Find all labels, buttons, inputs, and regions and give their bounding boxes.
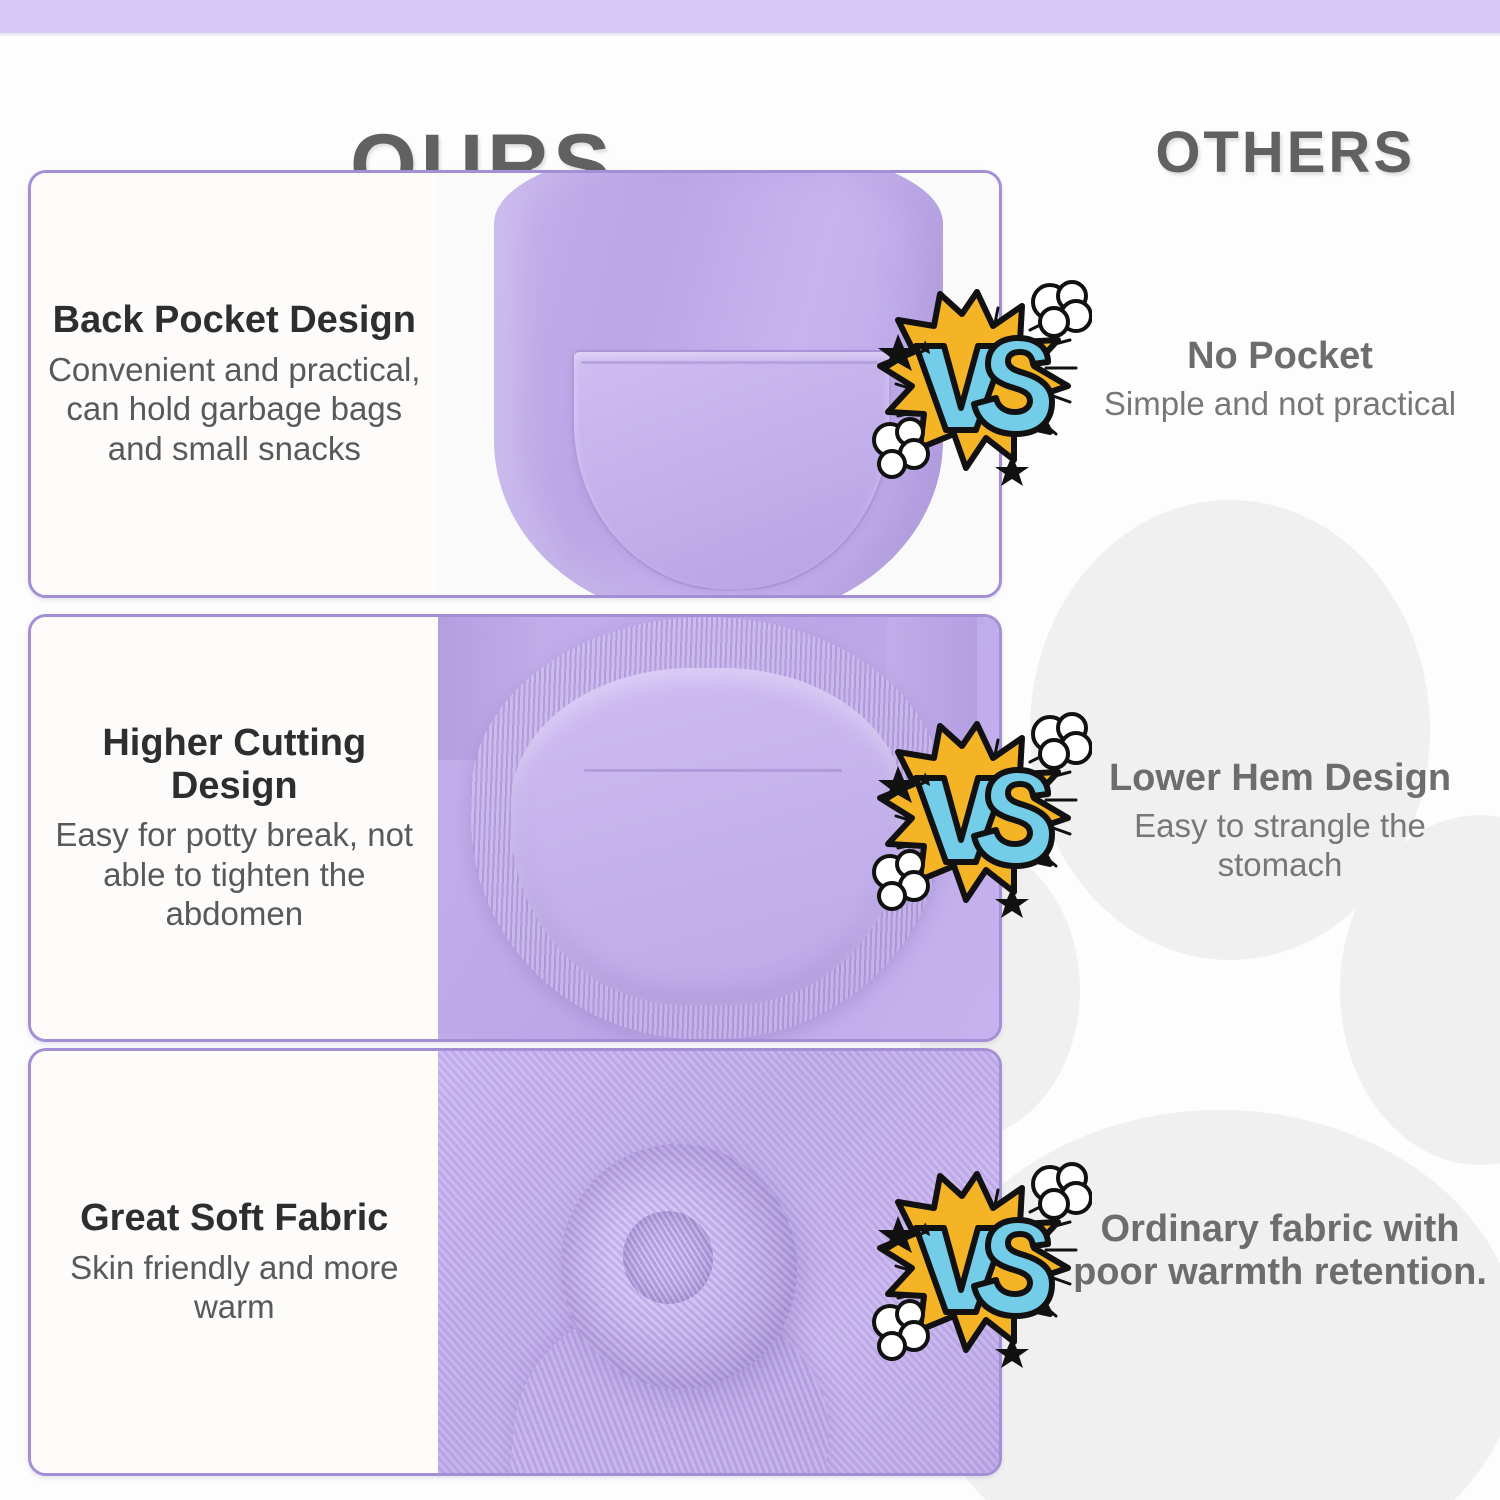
comparison-card-1: Back Pocket Design Convenient and practi… (28, 170, 1002, 598)
comparison-card-3: Great Soft Fabric Skin friendly and more… (28, 1048, 1002, 1476)
ours-text-block-3: Great Soft Fabric Skin friendly and more… (31, 1051, 438, 1473)
others-title-3: Ordinary fabric with poor warmth retenti… (1070, 1208, 1490, 1293)
ours-description-3: Skin friendly and more warm (45, 1248, 424, 1327)
comparison-card-2: Higher Cutting Design Easy for potty bre… (28, 614, 1002, 1042)
hoodie-hem-seam (584, 769, 842, 772)
others-description-2: Easy to strangle the stomach (1070, 806, 1490, 885)
others-text-block-1: No Pocket Simple and not practical (1070, 335, 1490, 423)
others-title-1: No Pocket (1070, 335, 1490, 378)
others-text-block-2: Lower Hem Design Easy to strangle the st… (1070, 757, 1490, 885)
hoodie-pocket-seam (581, 361, 879, 364)
ours-title-1: Back Pocket Design (53, 299, 416, 342)
top-accent-strip-shadow (0, 33, 1500, 37)
others-description-1: Simple and not practical (1070, 384, 1490, 424)
infographic-root: OURS OTHERS Back Pocket Design Convenien… (0, 0, 1500, 1500)
header-others: OTHERS (1155, 119, 1415, 186)
ours-title-3: Great Soft Fabric (80, 1197, 388, 1240)
others-title-2: Lower Hem Design (1070, 757, 1490, 800)
others-text-block-3: Ordinary fabric with poor warmth retenti… (1070, 1208, 1490, 1299)
vs-badge-1 (862, 268, 1092, 498)
ours-description-1: Convenient and practical, can hold garba… (45, 350, 424, 469)
vs-badge-2 (862, 700, 1092, 930)
ours-description-2: Easy for potty break, not able to tighte… (45, 815, 424, 934)
hoodie-hem-opening (511, 668, 904, 1006)
top-accent-strip (0, 0, 1500, 33)
ours-text-block-2: Higher Cutting Design Easy for potty bre… (31, 617, 438, 1039)
vs-badge-3 (862, 1150, 1092, 1380)
ours-text-block-1: Back Pocket Design Convenient and practi… (31, 173, 438, 595)
ours-title-2: Higher Cutting Design (45, 722, 424, 807)
